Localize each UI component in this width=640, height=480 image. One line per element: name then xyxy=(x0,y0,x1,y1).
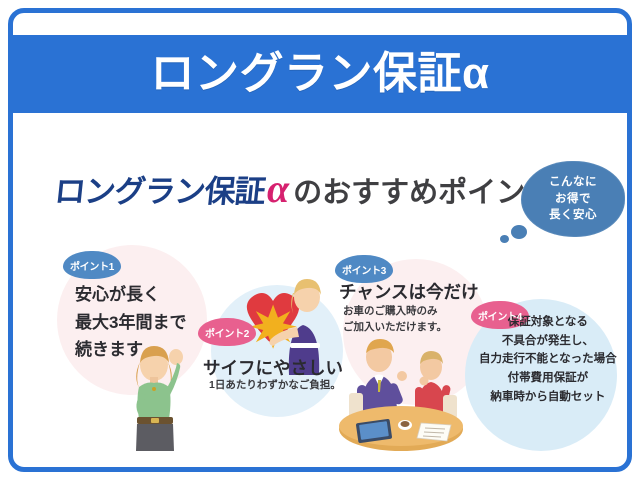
heading-brand: ロングラン保証 xyxy=(53,166,268,211)
point-1-title-line-3: 続きます xyxy=(75,336,186,364)
point-3-sub-line-2: ご加入いただけます。 xyxy=(343,319,447,335)
bubble-line-3: 長く安心 xyxy=(549,207,597,224)
point-2-title: サイフにやさしい xyxy=(203,357,343,380)
point-1-title-line-1: 安心が長く xyxy=(75,281,186,309)
point-4-line-4: 付帯費用保証が xyxy=(479,369,617,388)
point-2-sub-line-1: 1日あたりわずかなご負担。 xyxy=(209,379,341,393)
point-3-sub-line-1: お車のご購入時のみ xyxy=(343,303,447,319)
point-4-line-2: 不具合が発生し、 xyxy=(479,332,617,351)
bubble-tail-large xyxy=(511,225,527,239)
bubble-line-1: こんなに xyxy=(549,174,597,191)
point-3-badge-label: ポイント3 xyxy=(342,262,386,277)
point-2-title-line-1: サイフにやさしい xyxy=(203,357,343,380)
point-2-badge: ポイント2 xyxy=(198,318,256,346)
bubble-tail-small xyxy=(500,235,509,243)
point-4-line-5: 納車時から自動セット xyxy=(479,388,617,407)
point-2-subtitle: 1日あたりわずかなご負担。 xyxy=(209,379,341,393)
point-1-title-line-2: 最大3年間まで xyxy=(75,309,186,337)
point-3-title: チャンスは今だけ xyxy=(339,281,478,304)
main-heading: ロングラン保証 α のおすすめポイント xyxy=(55,165,554,212)
point-3-subtitle: お車のご購入時のみ ご加入いただけます。 xyxy=(343,303,447,336)
point-4-badge-label: ポイント4 xyxy=(478,308,522,323)
point-4-line-3: 自力走行不能となった場合 xyxy=(479,350,617,369)
thought-bubble: こんなに お得で 長く安心 xyxy=(521,161,625,237)
point-3-badge: ポイント3 xyxy=(335,255,393,283)
point-2-badge-label: ポイント2 xyxy=(205,325,249,340)
point-3-title-line-1: チャンスは今だけ xyxy=(339,281,478,304)
point-1-badge: ポイント1 xyxy=(63,251,121,279)
heading-suffix: のおすすめポイント xyxy=(293,169,554,211)
bubble-line-2: お得で xyxy=(555,191,591,208)
point-4-text: 保証対象となる 不具合が発生し、 自力走行不能となった場合 付帯費用保証が 納車… xyxy=(479,313,617,406)
two-people-at-table-illustration xyxy=(331,335,471,445)
header-band: ロングラン保証α xyxy=(13,35,627,113)
page-title: ロングラン保証α xyxy=(150,52,489,96)
point-1-title: 安心が長く 最大3年間まで 続きます xyxy=(75,281,186,364)
point-1-badge-label: ポイント1 xyxy=(70,258,114,273)
heading-alpha: α xyxy=(267,165,289,212)
poster-root: ロングラン保証α ロングラン保証 α のおすすめポイント こんなに お得で 長く… xyxy=(0,0,640,480)
poster-frame: ロングラン保証α ロングラン保証 α のおすすめポイント こんなに お得で 長く… xyxy=(8,8,632,472)
